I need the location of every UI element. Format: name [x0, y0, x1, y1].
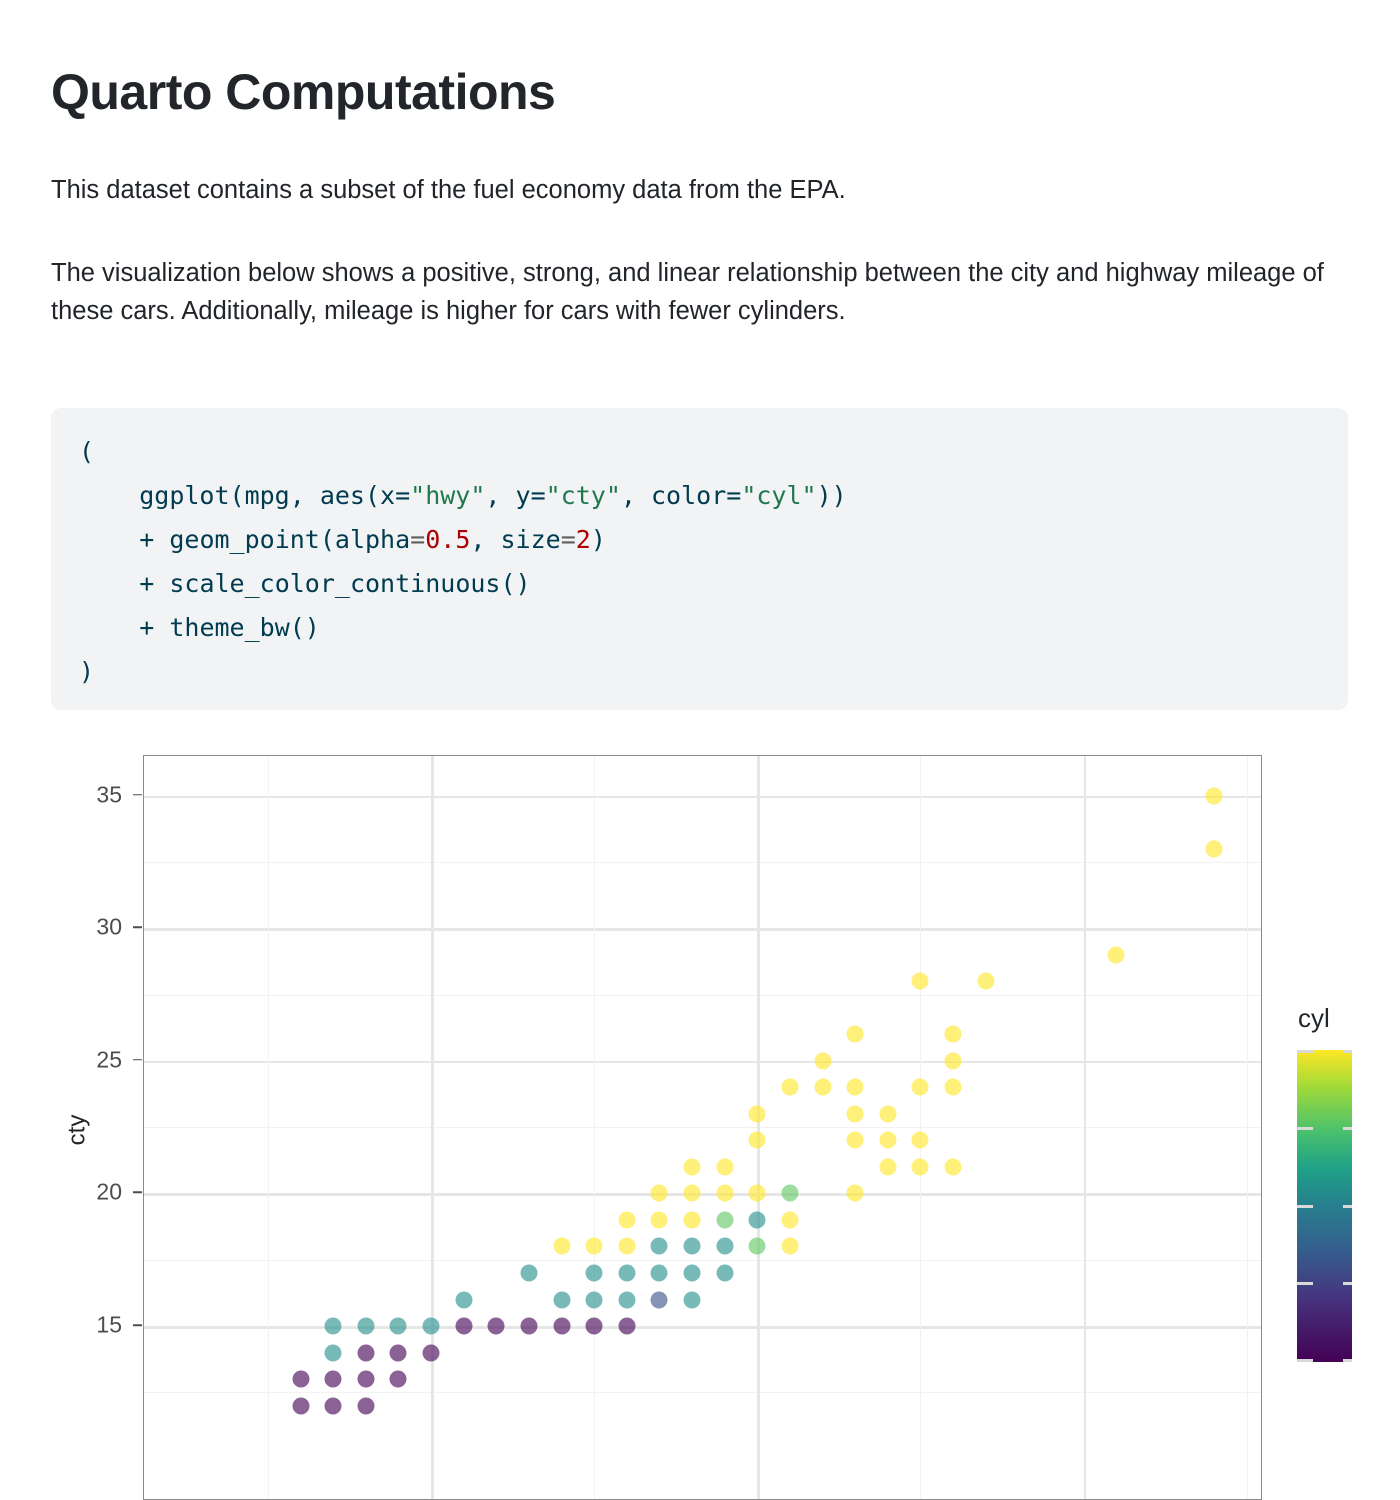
scatter-point: [716, 1238, 733, 1255]
scatter-point: [912, 973, 929, 990]
y-axis-tick-mark: [133, 1192, 142, 1194]
scatter-point: [749, 1211, 766, 1228]
scatter-point: [488, 1318, 505, 1335]
colorbar-gradient: [1297, 1050, 1352, 1362]
scatter-point: [357, 1371, 374, 1388]
scatter-point: [879, 1132, 896, 1149]
code-close-paren: ): [79, 657, 94, 686]
scatter-point: [357, 1318, 374, 1335]
code-geom-point: geom_point(alpha: [169, 525, 410, 554]
scatter-point: [879, 1158, 896, 1175]
scatter-point: [390, 1318, 407, 1335]
scatter-point: [749, 1105, 766, 1122]
scatter-point: [292, 1371, 309, 1388]
gridline-major-vertical: [431, 756, 434, 1499]
scatter-point: [586, 1264, 603, 1281]
code-string-hwy: "hwy": [410, 481, 485, 510]
description-paragraph: The visualization below shows a positive…: [51, 254, 1341, 332]
gridline-major-horizontal: [144, 1326, 1261, 1329]
gridline-major-horizontal: [144, 928, 1261, 931]
scatter-point: [749, 1185, 766, 1202]
gridline-minor-vertical: [920, 756, 921, 1499]
gridline-major-horizontal: [144, 1193, 1261, 1196]
scatter-point: [423, 1318, 440, 1335]
scatter-point: [912, 1158, 929, 1175]
code-theme: theme_bw(): [169, 613, 320, 642]
scatter-point: [651, 1238, 668, 1255]
gridline-minor-horizontal: [144, 1392, 1261, 1393]
scatter-point: [945, 1079, 962, 1096]
scatter-point: [651, 1264, 668, 1281]
gridline-major-vertical: [757, 756, 760, 1499]
code-string-cyl: "cyl": [741, 481, 816, 510]
scatter-point: [847, 1026, 864, 1043]
scatter-point: [455, 1291, 472, 1308]
gridline-minor-horizontal: [144, 1260, 1261, 1261]
scatter-point: [945, 1052, 962, 1069]
scatter-point: [945, 1026, 962, 1043]
intro-paragraph: This dataset contains a subset of the fu…: [51, 171, 1351, 210]
scatter-point: [651, 1211, 668, 1228]
scatter-point: [781, 1185, 798, 1202]
code-block: ( ggplot(mpg, aes(x="hwy", y="cty", colo…: [51, 408, 1348, 710]
scatter-point: [1206, 787, 1223, 804]
scatter-point: [847, 1105, 864, 1122]
scatter-point: [684, 1211, 701, 1228]
scatter-point: [586, 1318, 603, 1335]
scatter-point: [684, 1158, 701, 1175]
code-comma-color: , color=: [621, 481, 741, 510]
code-eq-2: =: [561, 525, 576, 554]
scatter-point: [618, 1318, 635, 1335]
colorbar-tick-left: [1297, 1127, 1313, 1130]
gridline-minor-horizontal: [144, 862, 1261, 863]
scatter-point: [847, 1185, 864, 1202]
code-plus-2: +: [139, 569, 154, 598]
scatter-point: [357, 1397, 374, 1414]
code-num-alpha: 0.5: [425, 525, 470, 554]
y-axis-tick-label: 35: [96, 781, 122, 808]
scatter-point: [325, 1318, 342, 1335]
scatter-point: [1108, 946, 1125, 963]
code-comma-y: , y=: [485, 481, 545, 510]
scatter-point: [390, 1344, 407, 1361]
colorbar-tick-left: [1297, 1359, 1313, 1362]
code-close-aes: )): [817, 481, 847, 510]
scatter-point: [357, 1344, 374, 1361]
scatter-point: [879, 1105, 896, 1122]
scatter-point: [325, 1371, 342, 1388]
scatter-point: [553, 1318, 570, 1335]
scatter-point: [455, 1318, 472, 1335]
code-string-cty: "cty": [546, 481, 621, 510]
gridline-major-vertical: [1084, 756, 1087, 1499]
colorbar-tick-right: [1343, 1127, 1352, 1130]
scatter-point: [651, 1291, 668, 1308]
scatter-point: [716, 1185, 733, 1202]
colorbar-tick-right: [1343, 1205, 1352, 1208]
code-size-label: , size: [470, 525, 560, 554]
scatter-point: [423, 1344, 440, 1361]
scatter-point: [553, 1238, 570, 1255]
scatter-point: [586, 1291, 603, 1308]
page-root: Quarto Computations This dataset contain…: [0, 0, 1400, 1500]
scatter-point: [781, 1238, 798, 1255]
colorbar-tick-right: [1343, 1282, 1352, 1285]
scatter-plot: cty 1520253035: [0, 745, 1400, 1500]
scatter-point: [716, 1158, 733, 1175]
gridline-minor-vertical: [594, 756, 595, 1499]
scatter-point: [390, 1371, 407, 1388]
code-ggplot-call: ggplot(mpg, aes(x=: [139, 481, 410, 510]
scatter-point: [618, 1211, 635, 1228]
scatter-point: [520, 1318, 537, 1335]
scatter-point: [814, 1079, 831, 1096]
y-axis-tick-label: 15: [96, 1312, 122, 1339]
y-axis-title: cty: [63, 1114, 91, 1145]
scatter-point: [618, 1238, 635, 1255]
scatter-point: [684, 1264, 701, 1281]
scatter-point: [618, 1291, 635, 1308]
code-plus-1: +: [139, 525, 154, 554]
code-scale-color: scale_color_continuous(): [169, 569, 530, 598]
scatter-point: [553, 1291, 570, 1308]
y-axis-tick-mark: [133, 794, 142, 796]
code-close-geom: ): [591, 525, 606, 554]
scatter-point: [749, 1238, 766, 1255]
scatter-point: [912, 1132, 929, 1149]
scatter-point: [586, 1238, 603, 1255]
scatter-point: [618, 1264, 635, 1281]
y-axis-tick-label: 25: [96, 1046, 122, 1073]
scatter-point: [292, 1397, 309, 1414]
scatter-point: [847, 1132, 864, 1149]
colorbar-tick-left: [1297, 1282, 1313, 1285]
scatter-point: [716, 1264, 733, 1281]
code-plus-3: +: [139, 613, 154, 642]
y-axis-tick-mark: [133, 927, 142, 929]
scatter-point: [749, 1132, 766, 1149]
gridline-minor-horizontal: [144, 1127, 1261, 1128]
scatter-point: [1206, 840, 1223, 857]
scatter-point: [945, 1158, 962, 1175]
colorbar-tick-right: [1343, 1359, 1352, 1362]
scatter-point: [716, 1211, 733, 1228]
gridline-major-horizontal: [144, 796, 1261, 799]
code-eq-1: =: [410, 525, 425, 554]
code-num-size: 2: [576, 525, 591, 554]
scatter-point: [781, 1211, 798, 1228]
scatter-point: [977, 973, 994, 990]
colorbar-tick-right: [1343, 1050, 1352, 1053]
scatter-point: [325, 1397, 342, 1414]
scatter-point: [814, 1052, 831, 1069]
gridline-minor-horizontal: [144, 995, 1261, 996]
y-axis-tick-mark: [133, 1324, 142, 1326]
gridline-minor-vertical: [1247, 756, 1248, 1499]
y-axis-tick-label: 20: [96, 1179, 122, 1206]
scatter-point: [847, 1079, 864, 1096]
y-axis-tick-label: 30: [96, 914, 122, 941]
code-line-1: (: [79, 437, 94, 466]
gridline-minor-vertical: [268, 756, 269, 1499]
scatter-point: [325, 1344, 342, 1361]
scatter-point: [684, 1185, 701, 1202]
scatter-point: [520, 1264, 537, 1281]
plot-panel: [143, 755, 1262, 1500]
legend-title: cyl: [1298, 1003, 1330, 1034]
colorbar-tick-left: [1297, 1050, 1313, 1053]
y-axis-tick-mark: [133, 1059, 142, 1061]
page-title: Quarto Computations: [51, 64, 555, 122]
code-content: ( ggplot(mpg, aes(x="hwy", y="cty", colo…: [79, 430, 1348, 694]
scatter-point: [684, 1238, 701, 1255]
scatter-point: [912, 1079, 929, 1096]
scatter-point: [781, 1079, 798, 1096]
scatter-point: [651, 1185, 668, 1202]
colorbar-tick-left: [1297, 1205, 1313, 1208]
scatter-point: [684, 1291, 701, 1308]
gridline-major-horizontal: [144, 1061, 1261, 1064]
